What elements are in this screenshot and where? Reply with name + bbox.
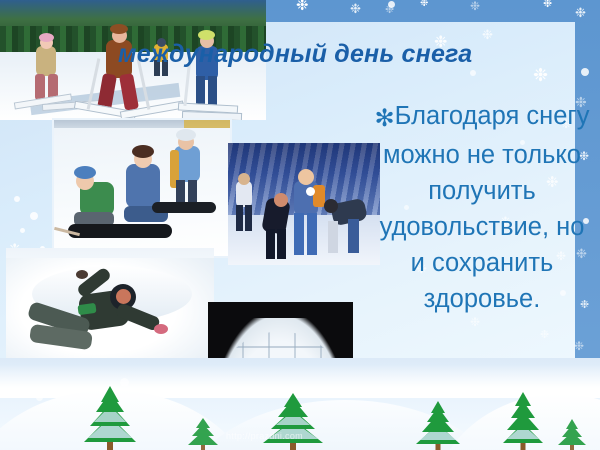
- page-title: международный день снега: [118, 40, 548, 69]
- snowflake-icon: ❉: [543, 0, 552, 10]
- fir-tree-icon: [258, 394, 328, 450]
- child-leg: [294, 213, 304, 255]
- child-face: [116, 289, 131, 304]
- snow-dot-icon: [388, 1, 395, 8]
- skier-leg: [196, 76, 205, 106]
- body-paragraph: ✻Благодаря снегу можно не только получит…: [370, 98, 594, 317]
- snowflake-icon: ❉: [296, 0, 309, 13]
- snowflake-icon: ❉: [540, 330, 549, 341]
- adult-head: [324, 199, 338, 213]
- child-head: [298, 169, 314, 185]
- skier-child: [36, 46, 56, 76]
- fir-tree-icon: [80, 388, 140, 450]
- sled: [68, 224, 172, 238]
- bullet-glyph: ✻: [375, 105, 395, 132]
- snowflake-icon: ❉: [575, 6, 586, 19]
- fir-tree-icon: [556, 416, 588, 450]
- child-mitten: [76, 270, 88, 279]
- photo-snowball: Игра в снежки в зимнем лесу: [228, 143, 380, 265]
- child-head: [238, 173, 250, 185]
- skier-leg: [35, 74, 45, 100]
- background-object: [184, 118, 230, 128]
- watermark-url: http://prazdni.com: [226, 431, 303, 441]
- skier-hat: [110, 24, 128, 34]
- fir-tree-icon: [500, 386, 546, 450]
- sled: [152, 202, 216, 213]
- snow-dot-icon: [36, 394, 43, 401]
- fir-tree-icon: [412, 400, 464, 450]
- child-hat: [176, 129, 196, 141]
- snowflake-icon: ❉: [574, 340, 584, 352]
- snow-dot-icon: [20, 228, 25, 233]
- adult-leg: [348, 219, 359, 253]
- child-hat: [74, 166, 96, 179]
- body-text-content: Благодаря снегу можно не только получить…: [380, 102, 590, 313]
- fir-tree-icon: [186, 416, 220, 450]
- snow-dot-icon: [470, 70, 476, 76]
- slide-canvas: ❉ ❉ ❉ ❉ ❉ ❉ ❉ ❉ ❉ ❉ ❉ ❉ ❉ ❉ ❉ ❉ ❉ ❉ ❉ ❉ …: [0, 0, 600, 450]
- snow-dot-icon: [30, 212, 38, 220]
- child-small: [328, 221, 338, 253]
- child-leg: [277, 229, 286, 259]
- child-hat: [132, 145, 154, 158]
- child-head: [274, 193, 288, 207]
- child-leg: [236, 205, 243, 231]
- snowflake-icon: ❉: [350, 2, 361, 15]
- child-mitten: [154, 324, 168, 334]
- skier-hat: [198, 30, 215, 40]
- snowflake-icon: ❉: [420, 0, 428, 9]
- snow-dot-icon: [120, 378, 129, 387]
- snowflake-icon: ❉: [450, 386, 460, 398]
- snowflake-icon: ❉: [470, 316, 480, 328]
- skier-leg: [208, 76, 217, 106]
- child-leg: [307, 213, 317, 255]
- photo-sledding: Дети катаются на санках: [52, 118, 232, 258]
- snowball: [306, 187, 315, 196]
- snow-dot-icon: [581, 68, 589, 76]
- child-leg: [266, 229, 275, 259]
- snowflake-icon: ❉: [470, 0, 480, 12]
- skier-hat: [39, 33, 54, 42]
- snow-dot-icon: [14, 196, 20, 202]
- child-leg: [245, 205, 252, 231]
